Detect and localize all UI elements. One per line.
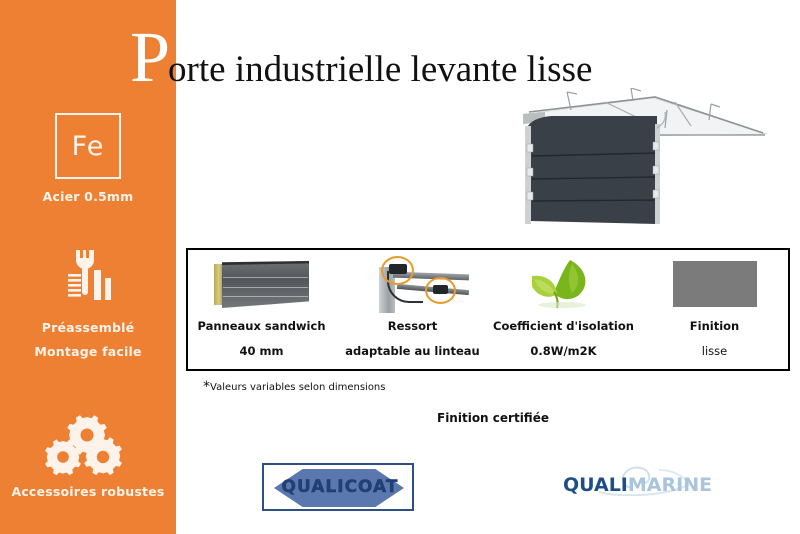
finish-swatch — [673, 255, 757, 313]
feature-title: Coefficient d'isolation — [493, 319, 634, 333]
fe-symbol-label: Fe — [72, 131, 105, 162]
feature-value: adaptable au linteau — [345, 344, 480, 358]
feature-item-ressort: Ressort adaptable au linteau — [337, 248, 488, 371]
feature-value: 40 mm — [240, 344, 284, 358]
footnote-text: Valeurs variables selon dimensions — [210, 382, 385, 393]
gears-icon — [45, 415, 131, 477]
page-title: P orte industrielle levante lisse — [130, 26, 592, 88]
sandwich-panel-image — [214, 255, 309, 313]
footnote-asterisk: * — [203, 379, 210, 395]
spring-mechanism-image — [357, 255, 469, 313]
footnote: *Valeurs variables selon dimensions — [203, 379, 385, 395]
feature-item-panneaux: Panneaux sandwich 40 mm — [186, 248, 337, 371]
product-sheet-page: Fe Acier 0.5mm Préassemblé Montage facil… — [0, 0, 800, 534]
feature-item-finition: Finition lisse — [639, 248, 790, 371]
sidebar-item-label-accessoires: Accessoires robustes — [0, 484, 176, 499]
certification-label: Finition certifiée — [437, 411, 549, 425]
green-leaf-icon — [524, 255, 604, 313]
feature-value: 0.8W/m2K — [530, 344, 596, 358]
feature-item-isolation: Coefficient d'isolation 0.8W/m2K — [488, 248, 639, 371]
qualimarine-text-marine: MARINE — [628, 474, 712, 496]
qualicoat-logo: QUALICOAT — [262, 463, 414, 511]
page-title-text: orte industrielle levante lisse — [168, 48, 592, 92]
qualimarine-text-quali: QUALI — [563, 474, 628, 496]
qualicoat-logo-text: QUALICOAT — [264, 477, 416, 497]
sidebar-item-label-montage: Montage facile — [0, 344, 176, 359]
feature-title: Panneaux sandwich — [197, 319, 325, 333]
wrench-assembly-icon — [60, 248, 118, 306]
sectional-industrial-door-image — [505, 88, 785, 228]
qualimarine-logo: QUALIMARINE — [563, 470, 713, 504]
feature-grid: Panneaux sandwich 40 mm Ressort adaptabl… — [186, 248, 790, 371]
feature-title: Ressort — [388, 319, 437, 333]
feature-value: lisse — [702, 344, 727, 358]
page-title-initial: P — [130, 26, 170, 88]
sidebar-item-label-acier: Acier 0.5mm — [0, 189, 176, 204]
feature-title: Finition — [690, 319, 739, 333]
sidebar-item-label-preassemble: Préassemblé — [0, 320, 176, 335]
fe-square-icon: Fe — [55, 113, 121, 179]
